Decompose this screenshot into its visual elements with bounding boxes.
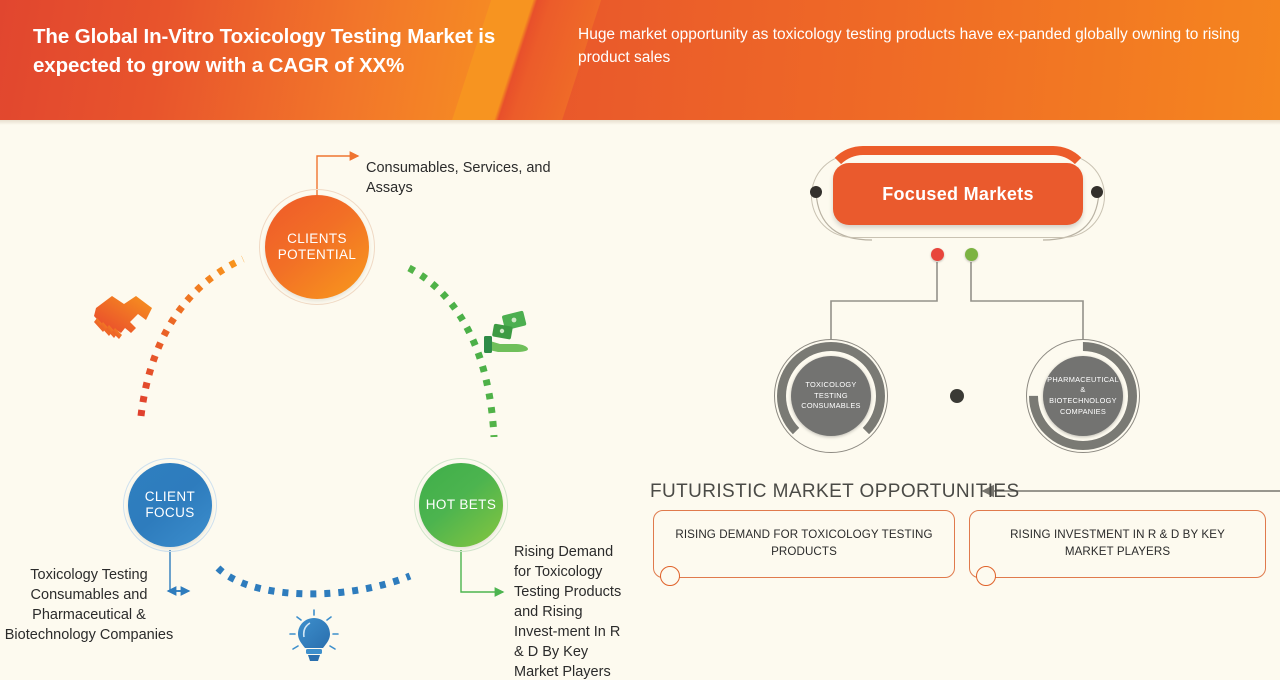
bubble-clients-potential[interactable]: CLIENTS POTENTIAL: [265, 195, 369, 299]
futuristic-opportunities-title: FUTURISTIC MARKET OPPORTUNITIES: [650, 481, 1020, 503]
header-subtitle: Huge market opportunity as toxicology te…: [578, 24, 1258, 70]
node-label-pharmaceutical-biotechnology-companies: PHARMACEUTICAL & BIOTECHNOLOGY COMPANIES: [1043, 356, 1123, 436]
focused-markets-right-dot: [1091, 186, 1103, 198]
focused-markets-label: Focused Markets: [882, 184, 1034, 205]
infographic-page: The Global In-Vitro Toxicology Testing M…: [0, 0, 1280, 680]
bubble-client-focus[interactable]: CLIENT FOCUS: [128, 463, 212, 547]
callout-consumables: Consumables, Services, and Assays: [366, 158, 566, 198]
focused-markets-left-dot: [810, 186, 822, 198]
opportunity-card-2-label: RISING INVESTMENT IN R & D BY KEY MARKET…: [988, 527, 1247, 561]
bubble-hot-bets[interactable]: HOT BETS: [419, 463, 503, 547]
dotted-arc-blue: [218, 568, 410, 594]
callout-hot-bets: Rising Demand for Toxicology Testing Pro…: [514, 542, 626, 680]
handshake-icon: [94, 296, 152, 339]
node-toxicology-testing-consumables[interactable]: TOXICOLOGY TESTING CONSUMABLES: [774, 339, 888, 453]
dotted-arc-green: [409, 268, 494, 437]
callout-client-focus: Toxicology Testing Consumables and Pharm…: [4, 565, 174, 645]
opportunity-card-2[interactable]: RISING INVESTMENT IN R & D BY KEY MARKET…: [969, 510, 1266, 578]
marker-dot-toxicology-testing-consumables: [931, 248, 944, 261]
opportunity-card-2-bullet: [976, 566, 996, 586]
bubble-hot-bets-label: HOT BETS: [426, 497, 496, 513]
dotted-arc-orange: [141, 259, 243, 416]
bubble-clients-potential-label: CLIENTS POTENTIAL: [265, 231, 369, 264]
center-dot: [950, 389, 964, 403]
focused-markets-pill[interactable]: Focused Markets: [833, 163, 1083, 225]
page-title: The Global In-Vitro Toxicology Testing M…: [33, 22, 513, 80]
marker-dot-pharmaceutical-biotechnology-companies: [965, 248, 978, 261]
bubble-client-focus-label: CLIENT FOCUS: [128, 489, 212, 522]
header-shadow: [0, 120, 1280, 125]
header-banner: The Global In-Vitro Toxicology Testing M…: [0, 0, 1280, 120]
opportunity-card-1-bullet: [660, 566, 680, 586]
opportunity-card-1[interactable]: RISING DEMAND FOR TOXICOLOGY TESTING PRO…: [653, 510, 955, 578]
node-pharmaceutical-biotechnology-companies[interactable]: PHARMACEUTICAL & BIOTECHNOLOGY COMPANIES: [1026, 339, 1140, 453]
lightbulb-icon: [290, 610, 338, 661]
node-label-toxicology-testing-consumables: TOXICOLOGY TESTING CONSUMABLES: [791, 356, 871, 436]
node-connectors: [831, 262, 1083, 339]
money-in-hand-icon: [484, 311, 528, 353]
opportunity-card-1-label: RISING DEMAND FOR TOXICOLOGY TESTING PRO…: [672, 527, 936, 561]
leader-line-hot-bets: [461, 550, 503, 592]
